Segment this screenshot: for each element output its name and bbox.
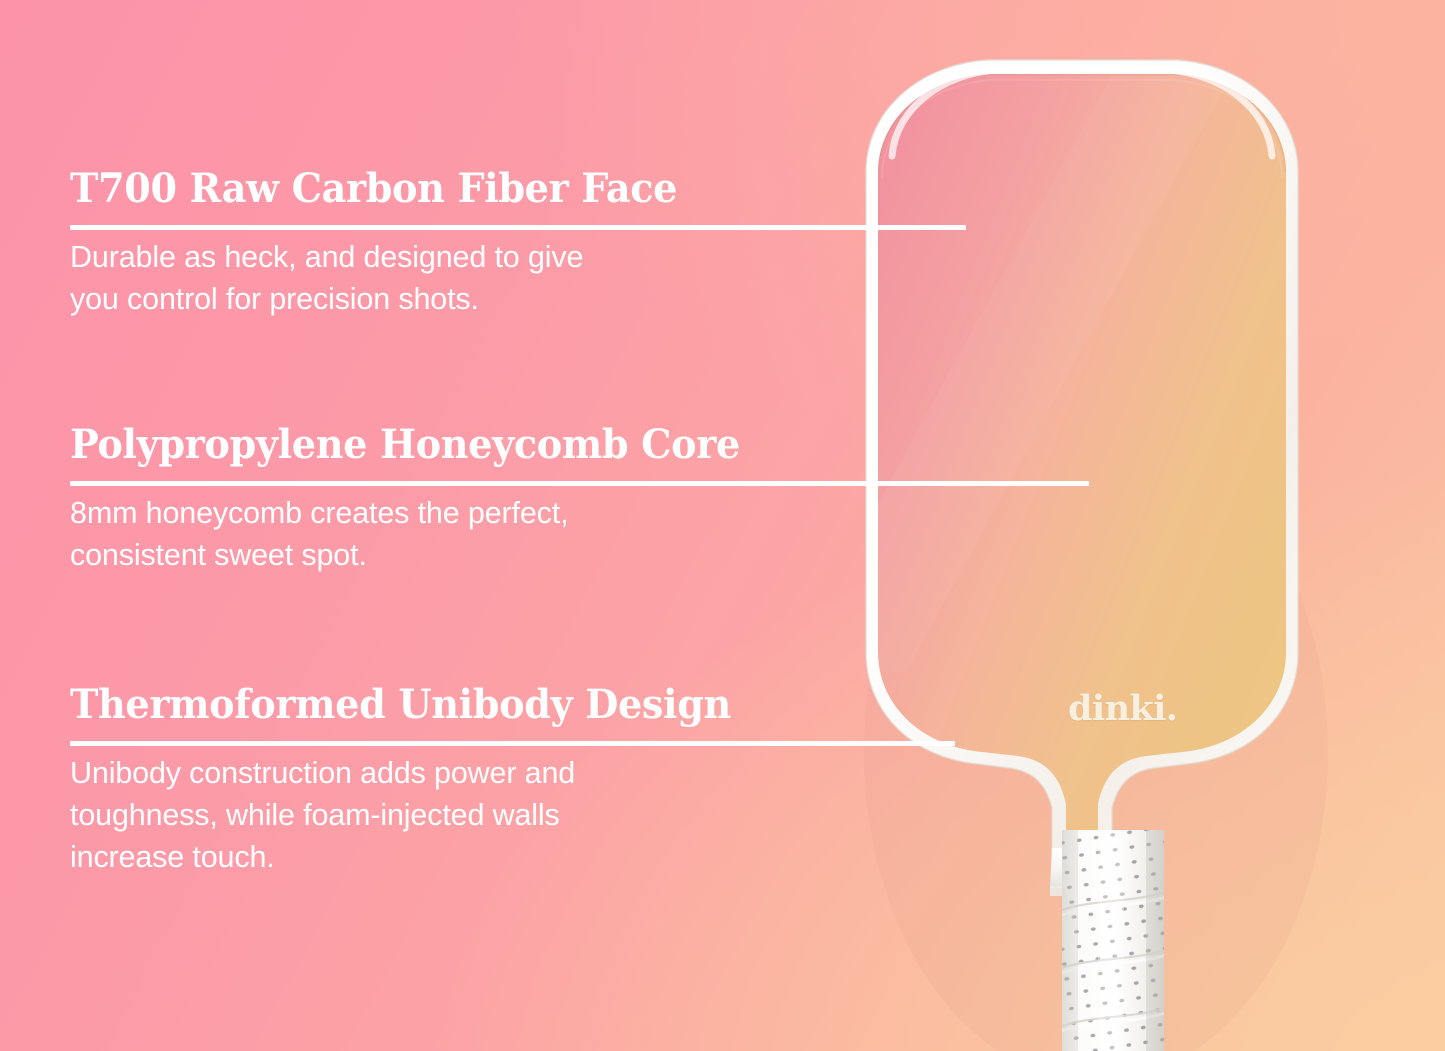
feature-divider-rule xyxy=(70,225,966,230)
feature-title: T700 Raw Carbon Fiber Face xyxy=(70,168,677,210)
feature-divider-rule xyxy=(70,481,1089,486)
feature-body: Unibody construction adds power and toug… xyxy=(70,753,575,878)
feature-body-wrap-honeycomb-core: 8mm honeycomb creates the perfect, consi… xyxy=(70,493,568,577)
feature-block-honeycomb-core: Polypropylene Honeycomb Core xyxy=(70,424,772,466)
paddle-handle-grip xyxy=(1056,830,1172,1051)
infographic-poster: dinki. T700 Raw Carbon Fiber Face Durabl… xyxy=(0,0,1445,1051)
feature-body: 8mm honeycomb creates the perfect, consi… xyxy=(70,493,568,577)
feature-divider-rule xyxy=(70,741,955,746)
feature-title: Polypropylene Honeycomb Core xyxy=(70,424,740,466)
pickleball-paddle-image: dinki. xyxy=(846,52,1326,1051)
feature-body-wrap-unibody-design: Unibody construction adds power and toug… xyxy=(70,753,575,878)
feature-body-wrap-carbon-face: Durable as heck, and designed to give yo… xyxy=(70,237,583,321)
feature-block-unibody-design: Thermoformed Unibody Design xyxy=(70,684,762,726)
feature-body: Durable as heck, and designed to give yo… xyxy=(70,237,583,321)
paddle-brand-logo: dinki. xyxy=(1068,691,1177,726)
feature-title: Thermoformed Unibody Design xyxy=(70,684,731,726)
feature-block-carbon-face: T700 Raw Carbon Fiber Face xyxy=(70,168,706,210)
